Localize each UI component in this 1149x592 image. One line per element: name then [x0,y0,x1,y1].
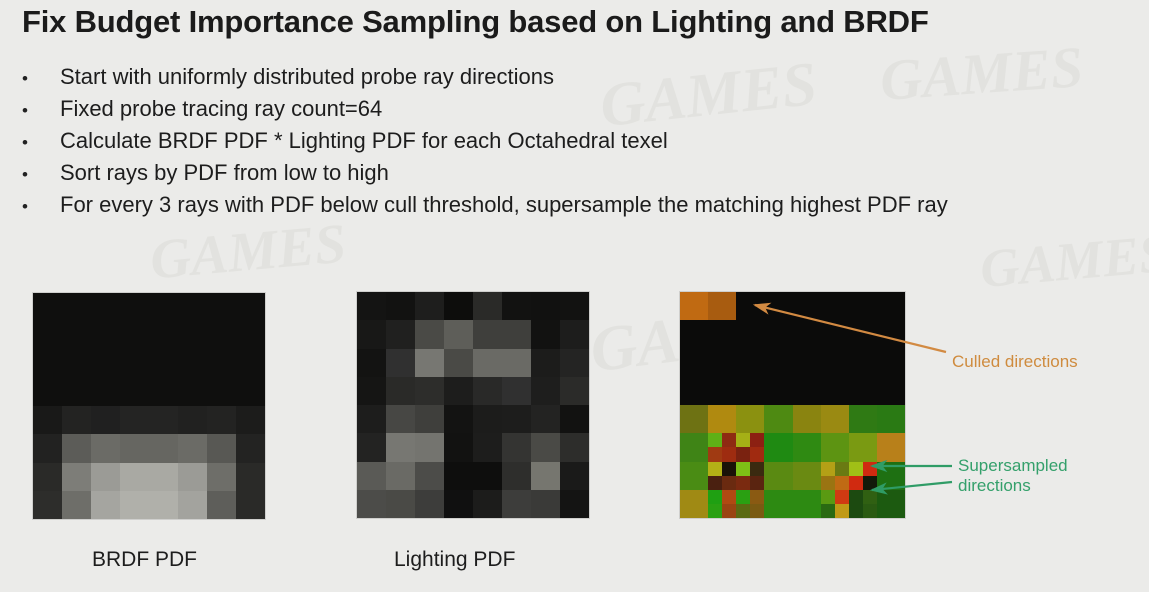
texel-subcell [821,504,835,518]
texel-cell [33,378,62,406]
texel-cell [764,462,792,490]
texel-cell [877,377,905,405]
texel-cell [473,292,502,320]
texel-subcell [750,490,764,504]
texel-cell [415,462,444,490]
texel-cell-supersampled [821,490,849,518]
slide-title: Fix Budget Importance Sampling based on … [22,4,929,40]
texel-cell [91,378,120,406]
texel-cell [386,433,415,461]
texel-cell [236,378,265,406]
texel-cell [708,405,736,433]
octahedral-result-image [680,292,905,518]
texel-cell [560,377,589,405]
bullet-marker-icon: • [22,198,60,215]
bullet-text: Start with uniformly distributed probe r… [60,64,554,90]
texel-subcell [821,490,835,504]
texel-cell [502,320,531,348]
texel-cell [91,350,120,378]
texel-cell [386,377,415,405]
texel-cell [502,462,531,490]
texel-cell [149,491,178,519]
texel-cell [357,490,386,518]
texel-cell [531,433,560,461]
texel-cell [502,405,531,433]
texel-cell-supersampled [736,490,764,518]
annotation-culled-directions: Culled directions [952,352,1078,372]
texel-cell [120,406,149,434]
texel-cell [386,405,415,433]
texel-cell [149,406,178,434]
texel-cell [62,293,91,321]
texel-cell [877,405,905,433]
texel-subcell [863,490,877,504]
texel-cell [415,433,444,461]
texel-cell [386,462,415,490]
texel-cell [793,433,821,461]
texel-cell [736,349,764,377]
texel-cell [62,463,91,491]
texel-cell [236,434,265,462]
texel-cell [877,349,905,377]
texel-cell [502,433,531,461]
texel-cell [764,405,792,433]
texel-cell [764,377,792,405]
texel-cell [178,350,207,378]
texel-cell [680,349,708,377]
texel-cell [821,377,849,405]
texel-cell [444,377,473,405]
texel-cell [149,463,178,491]
texel-cell [62,350,91,378]
texel-cell [149,321,178,349]
texel-cell [793,377,821,405]
texel-subcell [835,462,849,476]
texel-subcell [722,490,736,504]
texel-cell [560,405,589,433]
texel-cell [849,320,877,348]
texel-cell [149,378,178,406]
texel-cell [357,349,386,377]
texel-cell [33,321,62,349]
texel-subcell [750,462,764,476]
texel-subcell [863,476,877,490]
texel-cell [877,433,905,461]
texel-cell [821,405,849,433]
texel-subcell [736,433,750,447]
texel-cell [386,320,415,348]
bullet-text: Calculate BRDF PDF * Lighting PDF for ea… [60,128,668,154]
texel-subcell [708,433,722,447]
texel-cell [120,378,149,406]
texel-cell [149,350,178,378]
texel-cell [415,405,444,433]
texel-cell [849,377,877,405]
texel-cell [793,405,821,433]
texel-subcell [821,476,835,490]
texel-cell [531,405,560,433]
texel-subcell [708,462,722,476]
texel-subcell [736,476,750,490]
texel-cell [149,293,178,321]
texel-cell [849,405,877,433]
texel-cell [357,462,386,490]
texel-cell [502,377,531,405]
bullet-marker-icon: • [22,166,60,183]
texel-cell-supersampled [708,490,736,518]
caption-brdf-pdf: BRDF PDF [92,548,197,572]
texel-cell-supersampled [821,462,849,490]
texel-subcell [849,490,863,504]
texel-cell [473,377,502,405]
texel-cell [793,490,821,518]
bullet-text: Sort rays by PDF from low to high [60,160,389,186]
texel-cell [91,406,120,434]
texel-subcell [835,504,849,518]
texel-cell [91,293,120,321]
texel-subcell [722,504,736,518]
texel-cell [764,433,792,461]
texel-subcell [750,447,764,461]
texel-cell [849,433,877,461]
texel-subcell [736,447,750,461]
texel-cell [531,377,560,405]
list-item: • Fixed probe tracing ray count=64 [22,96,1142,128]
texel-cell [357,405,386,433]
texel-cell [62,378,91,406]
texel-subcell [708,476,722,490]
texel-cell [680,377,708,405]
texel-cell [502,292,531,320]
figure-lighting-pdf [357,292,589,518]
texel-cell [473,349,502,377]
texel-cell [91,321,120,349]
texel-cell [33,491,62,519]
texel-cell [560,462,589,490]
texel-cell [62,434,91,462]
texel-cell [849,349,877,377]
texel-cell [207,463,236,491]
texel-cell [236,321,265,349]
texel-cell [33,434,62,462]
texel-cell [764,292,792,320]
texel-cell [386,292,415,320]
texel-cell-supersampled [736,462,764,490]
texel-cell-supersampled [736,433,764,461]
texel-cell [444,320,473,348]
texel-cell [708,377,736,405]
texel-cell-culled [708,292,736,320]
list-item: • Start with uniformly distributed probe… [22,64,1142,96]
texel-cell [877,292,905,320]
brdf-pdf-image [33,293,265,519]
texel-subcell [736,462,750,476]
texel-cell [91,463,120,491]
texel-cell [560,433,589,461]
texel-cell [207,491,236,519]
texel-cell-culled [680,292,708,320]
texel-cell [120,321,149,349]
list-item: • Sort rays by PDF from low to high [22,160,1142,192]
texel-cell [386,490,415,518]
slide-canvas: GAMES GAMES GAMES GAMES GAMES Fix Budget… [0,0,1149,592]
texel-subcell [736,490,750,504]
texel-cell [207,378,236,406]
bullet-marker-icon: • [22,134,60,151]
annotation-supersampled-directions: Supersampled directions [958,456,1068,496]
texel-cell [178,491,207,519]
texel-cell [236,293,265,321]
texel-cell [877,490,905,518]
texel-cell [415,292,444,320]
texel-cell-supersampled [708,433,736,461]
texel-cell [178,406,207,434]
texel-cell [415,490,444,518]
texel-cell [357,292,386,320]
texel-cell [120,434,149,462]
texel-subcell [863,504,877,518]
texel-subcell [708,490,722,504]
texel-cell [62,321,91,349]
texel-cell [236,463,265,491]
texel-cell [473,462,502,490]
texel-cell-supersampled [849,490,877,518]
texel-cell [680,490,708,518]
texel-cell [502,490,531,518]
texel-cell [793,349,821,377]
texel-cell [33,350,62,378]
texel-cell [849,292,877,320]
texel-cell [207,350,236,378]
texel-cell [736,377,764,405]
texel-cell [821,349,849,377]
texel-subcell [835,476,849,490]
bullet-marker-icon: • [22,70,60,87]
texel-cell [178,434,207,462]
texel-cell [473,433,502,461]
texel-cell [386,349,415,377]
texel-cell [560,490,589,518]
texel-cell [708,349,736,377]
texel-cell [120,463,149,491]
texel-cell [62,491,91,519]
texel-subcell [821,462,835,476]
texel-cell [877,320,905,348]
bullet-text: For every 3 rays with PDF below cull thr… [60,192,948,218]
texel-cell [736,292,764,320]
texel-cell [736,405,764,433]
texel-cell [149,434,178,462]
texel-cell [502,349,531,377]
texel-cell [793,462,821,490]
figure-octahedral-result [680,292,905,518]
texel-cell [444,292,473,320]
texel-cell [357,433,386,461]
texel-subcell [722,447,736,461]
texel-subcell [750,433,764,447]
texel-cell [357,377,386,405]
lighting-pdf-image [357,292,589,518]
texel-subcell [863,462,877,476]
bullet-marker-icon: • [22,102,60,119]
texel-cell [531,320,560,348]
texel-cell [680,405,708,433]
texel-subcell [708,504,722,518]
texel-cell [793,292,821,320]
texel-cell [531,490,560,518]
annotation-supersampled-line2: directions [958,476,1068,496]
texel-cell [764,320,792,348]
texel-cell [62,406,91,434]
texel-subcell [849,476,863,490]
texel-cell [560,349,589,377]
texel-subcell [835,490,849,504]
watermark-fragment: GAMES [978,222,1149,300]
texel-cell [415,377,444,405]
texel-cell [33,406,62,434]
texel-cell [560,320,589,348]
texel-cell [473,320,502,348]
texel-subcell [722,476,736,490]
texel-cell [415,320,444,348]
list-item: • Calculate BRDF PDF * Lighting PDF for … [22,128,1142,160]
texel-cell [207,321,236,349]
texel-cell [207,406,236,434]
texel-cell [531,349,560,377]
texel-cell [33,463,62,491]
texel-cell [680,433,708,461]
texel-cell-supersampled [708,462,736,490]
texel-cell [178,321,207,349]
texel-subcell [722,462,736,476]
texel-subcell [849,462,863,476]
texel-cell [236,350,265,378]
texel-cell [207,434,236,462]
texel-subcell [750,504,764,518]
texel-cell [560,292,589,320]
list-item: • For every 3 rays with PDF below cull t… [22,192,1142,224]
texel-subcell [708,447,722,461]
bullet-text: Fixed probe tracing ray count=64 [60,96,382,122]
texel-cell [444,490,473,518]
texel-cell [33,293,62,321]
figure-brdf-pdf [33,293,265,519]
texel-cell [736,320,764,348]
texel-cell [444,433,473,461]
texel-subcell [750,476,764,490]
texel-cell [178,293,207,321]
texel-cell [91,491,120,519]
texel-cell [415,349,444,377]
texel-cell [178,463,207,491]
texel-cell [236,406,265,434]
texel-cell [91,434,120,462]
texel-subcell [736,504,750,518]
texel-subcell [849,504,863,518]
texel-cell [680,462,708,490]
texel-cell [207,293,236,321]
texel-cell [821,320,849,348]
texel-cell [680,320,708,348]
caption-lighting-pdf: Lighting PDF [394,548,515,572]
bullet-list: • Start with uniformly distributed probe… [22,64,1142,224]
texel-cell [444,349,473,377]
texel-cell [357,320,386,348]
texel-cell [821,433,849,461]
texel-cell [178,378,207,406]
texel-cell [531,292,560,320]
texel-subcell [722,433,736,447]
texel-cell [120,350,149,378]
texel-cell [764,349,792,377]
texel-cell [120,491,149,519]
texel-cell [236,491,265,519]
texel-cell [444,405,473,433]
texel-cell [764,490,792,518]
texel-cell [473,405,502,433]
texel-cell [877,462,905,490]
texel-cell [444,462,473,490]
texel-cell-supersampled [849,462,877,490]
texel-cell [120,293,149,321]
texel-cell [793,320,821,348]
texel-cell [821,292,849,320]
texel-cell [473,490,502,518]
texel-cell [708,320,736,348]
texel-cell [531,462,560,490]
annotation-supersampled-line1: Supersampled [958,456,1068,476]
